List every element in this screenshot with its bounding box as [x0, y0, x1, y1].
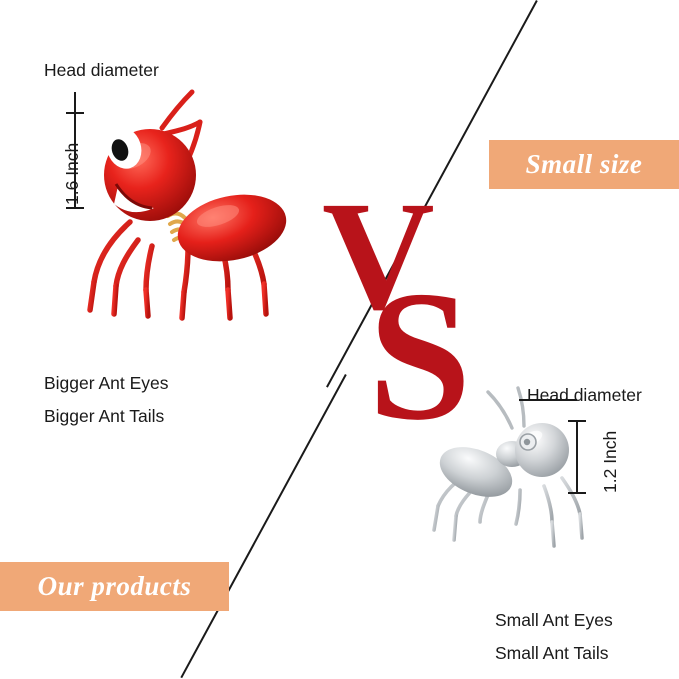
diagonal-divider-top — [326, 0, 537, 387]
left-feature-1: Bigger Ant Eyes — [44, 369, 169, 398]
left-measure-cap-bottom — [66, 207, 84, 209]
right-measurement-value: 1.2 Inch — [600, 431, 621, 493]
left-feature-2: Bigger Ant Tails — [44, 402, 164, 431]
right-feature-1: Small Ant Eyes — [495, 606, 613, 635]
left-measurement-value: 1.6 Inch — [62, 143, 83, 205]
red-ant-figurine — [60, 70, 320, 330]
silver-ant-illustration — [420, 380, 630, 570]
small-size-banner: Small size — [489, 140, 679, 189]
left-head-pointer — [74, 92, 76, 112]
right-measure-cap-top — [568, 420, 586, 422]
left-measure-cap-top — [66, 112, 84, 114]
versus-letter-v: V — [322, 178, 431, 334]
our-products-banner: Our products — [0, 562, 229, 611]
left-head-diameter-label: Head diameter — [44, 60, 159, 81]
right-head-diameter-label: Head diameter — [527, 385, 642, 406]
silver-ant-figurine — [420, 380, 630, 570]
red-ant-illustration — [60, 70, 320, 330]
diagonal-divider-bottom — [180, 374, 346, 678]
comparison-infographic: Head diameter 1.6 Inch Bigger Ant Eyes B… — [0, 0, 679, 679]
right-feature-2: Small Ant Tails — [495, 639, 608, 668]
our-products-banner-label: Our products — [38, 571, 192, 602]
small-size-banner-label: Small size — [526, 149, 643, 180]
right-measure-cap-bottom — [568, 492, 586, 494]
right-measure-line — [576, 421, 578, 493]
